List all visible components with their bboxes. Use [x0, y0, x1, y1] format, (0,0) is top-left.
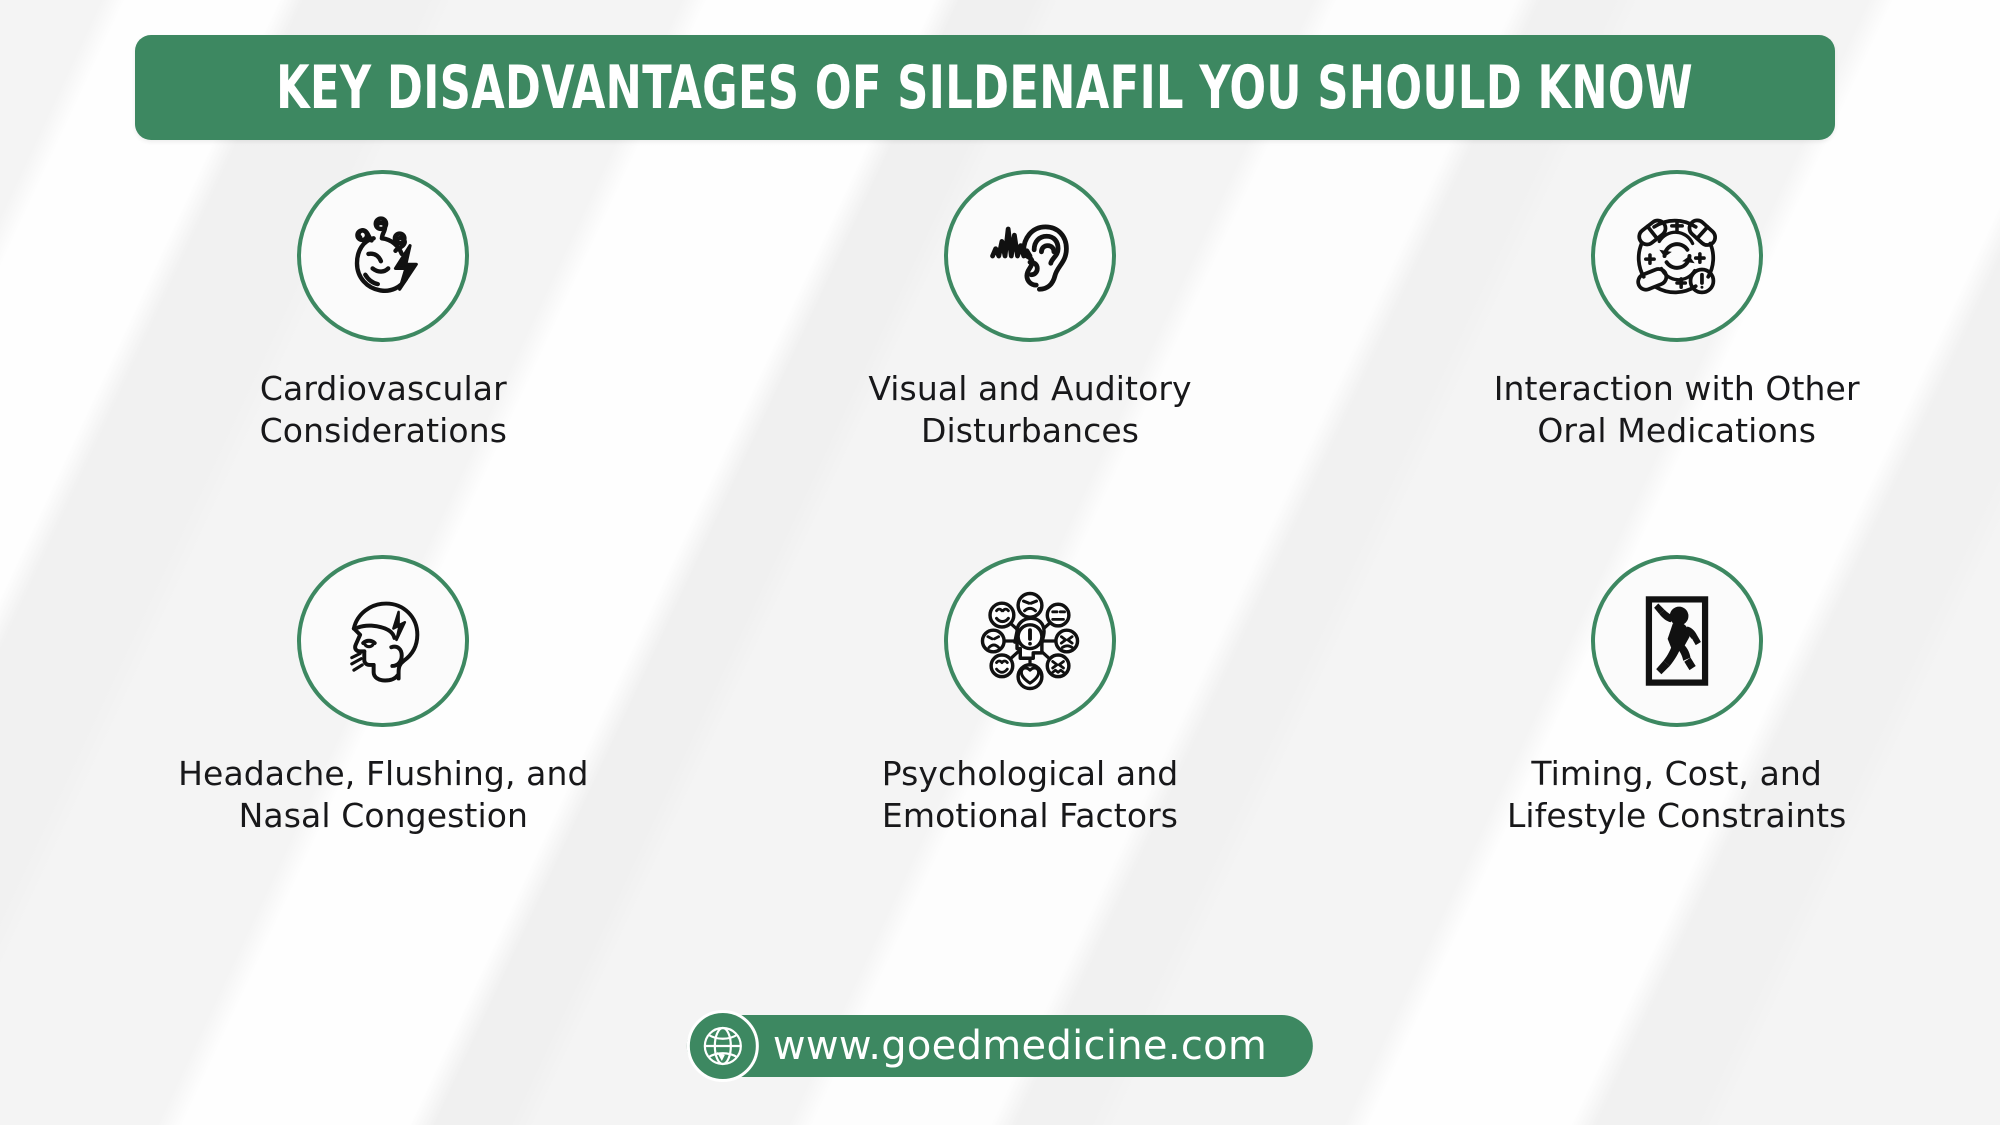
website-url[interactable]: www.goedmedicine.com	[773, 1026, 1267, 1066]
emotion-faces-network-icon	[944, 555, 1116, 727]
item-label-line1: Interaction with Other	[1494, 369, 1860, 408]
item-label-line2: Oral Medications	[1494, 410, 1860, 452]
item-drug-interaction[interactable]: Interaction with Other Oral Medications	[1353, 170, 2000, 560]
footer-pill[interactable]: www.goedmedicine.com	[687, 1015, 1313, 1077]
infographic-stage: KEY DISADVANTAGES OF SILDENAFIL YOU SHOU…	[0, 0, 2000, 1125]
item-label: Visual and Auditory Disturbances	[868, 368, 1191, 452]
item-psychological-emotional[interactable]: Psychological and Emotional Factors	[707, 555, 1354, 945]
items-grid: Cardiovascular Considerations	[0, 170, 2000, 970]
item-label: Cardiovascular Considerations	[260, 368, 507, 452]
ear-soundwave-icon	[944, 170, 1116, 342]
running-person-frame-icon	[1591, 555, 1763, 727]
item-label-line2: Considerations	[260, 410, 507, 452]
item-label-line1: Timing, Cost, and	[1531, 754, 1822, 793]
heart-lightning-icon	[297, 170, 469, 342]
item-label-line1: Cardiovascular	[260, 369, 507, 408]
head-headache-icon	[297, 555, 469, 727]
item-label-line1: Psychological and	[882, 754, 1179, 793]
item-visual-auditory[interactable]: Visual and Auditory Disturbances	[707, 170, 1354, 560]
item-label: Timing, Cost, and Lifestyle Constraints	[1507, 753, 1846, 837]
item-label-line2: Nasal Congestion	[178, 795, 588, 837]
item-label-line2: Emotional Factors	[882, 795, 1179, 837]
item-label: Headache, Flushing, and Nasal Congestion	[178, 753, 588, 837]
pills-interaction-icon	[1591, 170, 1763, 342]
item-label-line2: Disturbances	[868, 410, 1191, 452]
page-title: KEY DISADVANTAGES OF SILDENAFIL YOU SHOU…	[277, 58, 1694, 118]
globe-icon	[687, 1010, 759, 1082]
item-label: Interaction with Other Oral Medications	[1494, 368, 1860, 452]
items-row-2: Headache, Flushing, and Nasal Congestion	[0, 555, 2000, 945]
item-label-line1: Visual and Auditory	[868, 369, 1191, 408]
item-label: Psychological and Emotional Factors	[882, 753, 1179, 837]
title-banner: KEY DISADVANTAGES OF SILDENAFIL YOU SHOU…	[135, 35, 1835, 140]
item-timing-cost-lifestyle[interactable]: Timing, Cost, and Lifestyle Constraints	[1353, 555, 2000, 945]
item-label-line1: Headache, Flushing, and	[178, 754, 588, 793]
item-label-line2: Lifestyle Constraints	[1507, 795, 1846, 837]
footer-website-badge[interactable]: www.goedmedicine.com	[687, 1010, 1313, 1082]
item-headache-flushing[interactable]: Headache, Flushing, and Nasal Congestion	[0, 555, 707, 945]
items-row-1: Cardiovascular Considerations	[0, 170, 2000, 560]
item-cardiovascular[interactable]: Cardiovascular Considerations	[0, 170, 707, 560]
